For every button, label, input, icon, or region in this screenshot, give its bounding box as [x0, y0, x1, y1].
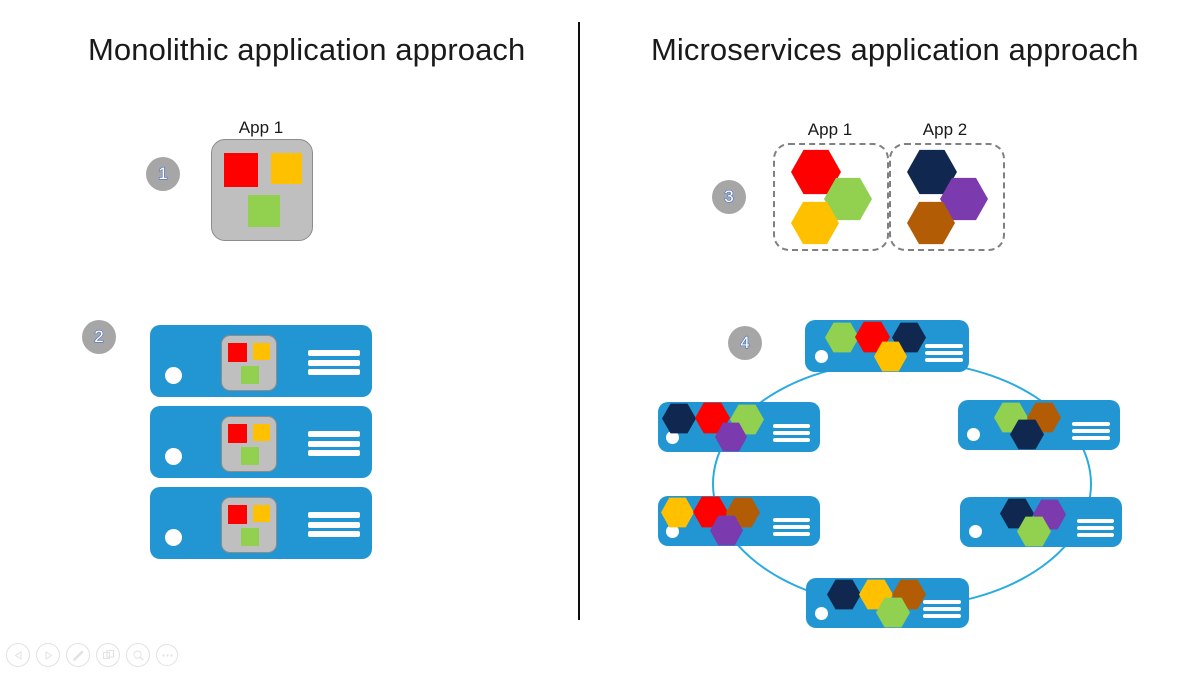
server-app-box — [221, 335, 277, 391]
previous-slide-button[interactable] — [6, 643, 30, 667]
more-options-button[interactable] — [156, 644, 178, 666]
server-vents-icon — [1077, 519, 1114, 537]
magnifier-icon — [132, 649, 145, 662]
pen-icon — [72, 649, 85, 662]
component-red-square — [224, 153, 258, 187]
ms-server-right-lower[interactable] — [960, 497, 1122, 547]
service-amber-hex — [661, 497, 694, 528]
server-vents-icon — [308, 350, 360, 375]
vertical-divider — [578, 22, 580, 620]
server-vents-icon — [773, 424, 810, 442]
triangle-right-icon — [43, 650, 54, 661]
mono-server-3[interactable] — [150, 487, 372, 559]
server-app-box — [221, 497, 277, 553]
page-title-monolithic: Monolithic application approach — [88, 32, 525, 68]
step-badge-1: 1 — [146, 157, 180, 191]
ms-server-bottom[interactable] — [806, 578, 969, 628]
server-vents-icon — [773, 518, 810, 536]
server-led-icon — [165, 529, 182, 546]
ms-app-group-1 — [773, 143, 889, 251]
server-app-box — [221, 416, 277, 472]
service-ring-connector — [712, 360, 1092, 608]
ms-server-left-lower[interactable] — [658, 496, 820, 546]
zoom-button[interactable] — [126, 643, 150, 667]
server-vents-icon — [925, 344, 963, 362]
server-led-icon — [165, 367, 182, 384]
service-green-hex — [825, 322, 859, 353]
triangle-left-icon — [13, 650, 24, 661]
component-red-square — [228, 343, 247, 362]
component-green-square — [241, 447, 259, 465]
component-green-square — [241, 528, 259, 546]
service-navy-hex — [662, 403, 696, 434]
ms-server-top[interactable] — [805, 320, 969, 372]
next-slide-button[interactable] — [36, 643, 60, 667]
pen-tool-button[interactable] — [66, 643, 90, 667]
server-vents-icon — [923, 600, 961, 618]
ms-server-left-middle[interactable] — [658, 402, 820, 452]
server-led-icon — [969, 525, 982, 538]
monolithic-app-box — [211, 139, 313, 241]
server-led-icon — [815, 350, 828, 363]
component-amber-square — [271, 153, 302, 184]
mono-app-label: App 1 — [211, 118, 311, 138]
component-amber-square — [253, 343, 270, 360]
server-vents-icon — [1072, 422, 1110, 440]
component-green-square — [248, 195, 280, 227]
server-vents-icon — [308, 431, 360, 456]
ms-app-label-2: App 2 — [890, 120, 1000, 140]
slideshow-toolbar — [6, 643, 178, 667]
page-title-microservices: Microservices application approach — [651, 32, 1139, 68]
step-badge-4: 4 — [728, 326, 762, 360]
all-slides-button[interactable] — [96, 643, 120, 667]
component-red-square — [228, 424, 247, 443]
step-badge-3: 3 — [712, 180, 746, 214]
component-green-square — [241, 366, 259, 384]
mono-server-1[interactable] — [150, 325, 372, 397]
server-led-icon — [165, 448, 182, 465]
server-led-icon — [815, 607, 828, 620]
ms-app-group-2 — [889, 143, 1005, 251]
server-vents-icon — [308, 512, 360, 537]
ms-server-right-middle[interactable] — [958, 400, 1120, 450]
ms-app-label-1: App 1 — [775, 120, 885, 140]
ellipsis-icon — [161, 653, 174, 658]
service-navy-hex — [827, 579, 861, 610]
component-red-square — [228, 505, 247, 524]
component-amber-square — [253, 424, 270, 441]
mono-server-2[interactable] — [150, 406, 372, 478]
step-badge-2: 2 — [82, 320, 116, 354]
server-led-icon — [967, 428, 980, 441]
slides-icon — [102, 649, 115, 662]
slide-canvas: Monolithic application approach Microser… — [0, 0, 1200, 675]
component-amber-square — [253, 505, 270, 522]
